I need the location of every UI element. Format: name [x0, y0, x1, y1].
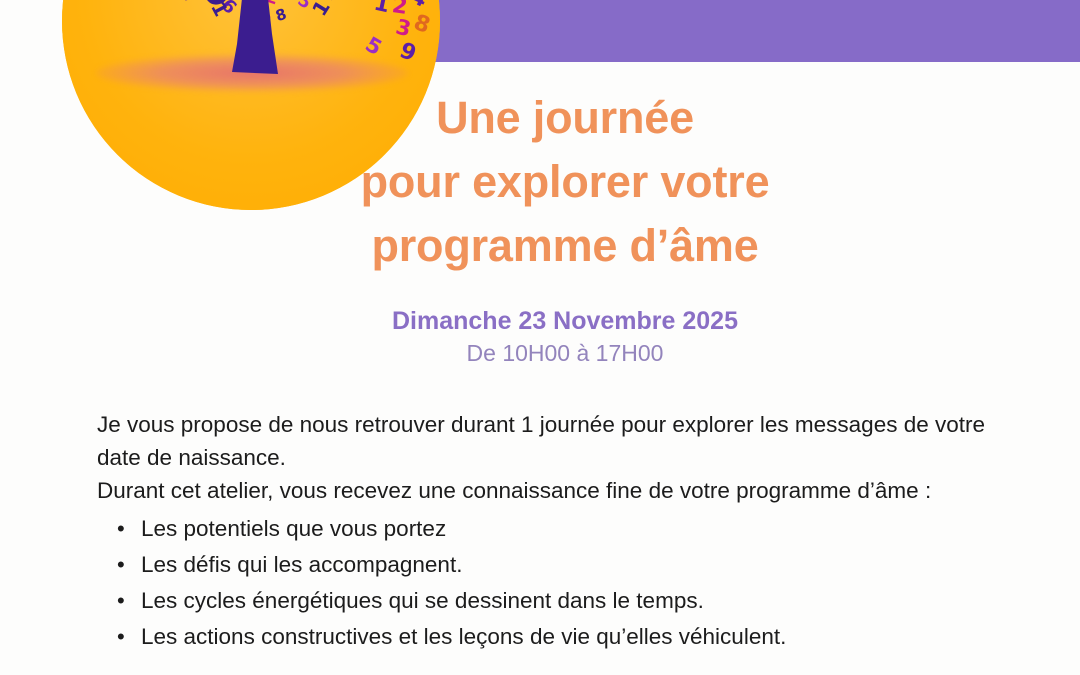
event-date-block: Dimanche 23 Novembre 2025 De 10H00 à 17H…	[300, 305, 830, 368]
decorative-number: 1	[372, 0, 392, 17]
decorative-number: 3	[394, 17, 413, 41]
decorative-number: 9	[176, 0, 200, 6]
list-item: Les cycles énergétiques qui se dessinent…	[141, 583, 1022, 619]
event-flyer: 9036412758921971243859 Une journée pour …	[0, 0, 1080, 675]
headline-line-3: programme d’âme	[300, 214, 830, 278]
purple-header-banner	[408, 0, 1080, 62]
event-time: De 10H00 à 17H00	[300, 338, 830, 368]
benefits-list: Les potentiels que vous portez Les défis…	[97, 511, 1022, 655]
headline-line-1: Une journée	[300, 86, 830, 150]
event-date: Dimanche 23 Novembre 2025	[300, 305, 830, 337]
description-paragraph-1: Je vous propose de nous retrouver durant…	[97, 408, 1022, 474]
event-description: Je vous propose de nous retrouver durant…	[97, 408, 1022, 655]
description-paragraph-2: Durant cet atelier, vous recevez une con…	[97, 474, 1022, 507]
list-item: Les défis qui les accompagnent.	[141, 547, 1022, 583]
decorative-number: 8	[411, 12, 433, 38]
decorative-number: 5	[362, 34, 385, 59]
standing-person-silhouette	[230, 0, 284, 76]
decorative-number: 9	[396, 40, 418, 66]
list-item: Les actions constructives et les leçons …	[141, 619, 1022, 655]
headline-line-2: pour explorer votre	[300, 150, 830, 214]
page-title: Une journée pour explorer votre programm…	[300, 86, 830, 278]
decorative-number: 1	[309, 0, 333, 19]
list-item: Les potentiels que vous portez	[141, 511, 1022, 547]
